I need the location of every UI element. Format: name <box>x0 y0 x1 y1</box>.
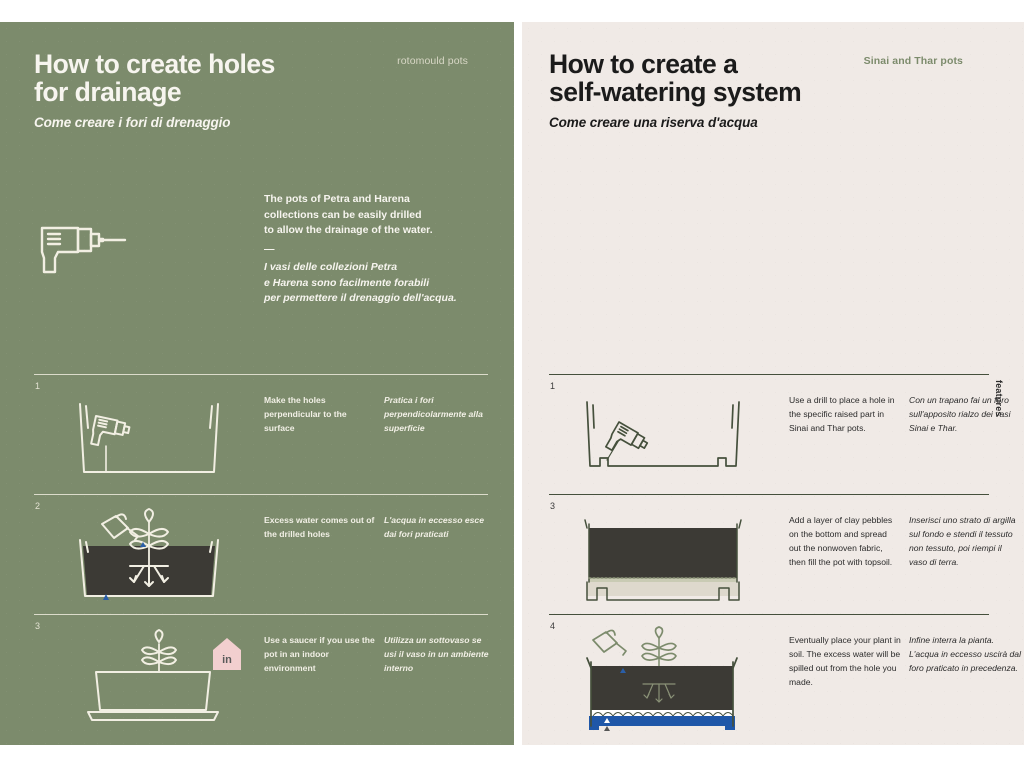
left-page-subtitle: Come creare i fori di drenaggio <box>34 115 480 130</box>
left-page: How to create holes for drainage Come cr… <box>0 22 514 745</box>
raised-pot-with-drill-illustration <box>567 388 767 486</box>
left-title-line-2: for drainage <box>34 78 480 106</box>
right-step-4: 4 <box>549 614 989 734</box>
step-divider <box>549 374 989 375</box>
right-step-3-copy: Add a layer of clay pebbles on the botto… <box>789 514 1021 570</box>
step-copy-en: Use a saucer if you use the pot in an in… <box>264 634 376 676</box>
step-copy-en: Add a layer of clay pebbles on the botto… <box>789 514 901 570</box>
right-step-1: 1 <box>549 374 989 494</box>
right-page: How to create a self-watering system Com… <box>522 22 1024 745</box>
left-step-1: 1 <box>34 374 488 494</box>
step-number: 3 <box>35 621 40 631</box>
step-copy-en: Excess water comes out of the drilled ho… <box>264 514 376 542</box>
pot-with-drill-illustration <box>58 388 268 486</box>
right-step-4-copy: Eventually place your plant in soil. The… <box>789 634 1021 690</box>
drill-icon <box>34 192 264 276</box>
right-step-3: 3 <box>549 494 989 614</box>
left-intro-text: The pots of Petra and Harena collections… <box>264 192 457 307</box>
step-divider <box>34 614 488 615</box>
step-divider <box>34 374 488 375</box>
pot-with-water-reservoir-illustration <box>567 628 767 726</box>
left-intro-it: I vasi delle collezioni Petra e Harena s… <box>264 260 457 307</box>
step-number: 3 <box>550 501 555 511</box>
step-copy-en: Use a drill to place a hole in the speci… <box>789 394 901 436</box>
left-steps-list: 1 <box>34 374 488 734</box>
right-collection-tag: Sinai and Thar pots <box>864 55 963 67</box>
step-copy-it: Con un trapano fai un foro sull'apposito… <box>909 394 1021 436</box>
step-divider <box>549 494 989 495</box>
left-intro-en: The pots of Petra and Harena collections… <box>264 192 457 239</box>
step-number: 2 <box>35 501 40 511</box>
pot-with-saucer-illustration: in <box>58 628 268 726</box>
step-copy-it: Pratica i fori perpendicolarmente alla s… <box>384 394 496 436</box>
left-step-2: 2 <box>34 494 488 614</box>
step-number: 1 <box>550 381 555 391</box>
step-divider <box>549 614 989 615</box>
step-copy-en: Eventually place your plant in soil. The… <box>789 634 901 690</box>
left-step-3: 3 <box>34 614 488 734</box>
step-number: 4 <box>550 621 555 631</box>
svg-text:in: in <box>222 654 232 666</box>
intro-rule-divider: — <box>264 242 457 258</box>
left-intro-block: The pots of Petra and Harena collections… <box>34 192 494 307</box>
left-page-header: How to create holes for drainage Come cr… <box>34 50 480 130</box>
pot-with-plant-watering-illustration <box>58 508 268 606</box>
step-divider <box>34 494 488 495</box>
right-page-subtitle: Come creare una riserva d'acqua <box>549 115 992 130</box>
step-copy-it: Inserisci uno strato di argilla sul fond… <box>909 514 1021 570</box>
step-copy-en: Make the holes perpendicular to the surf… <box>264 394 376 436</box>
left-step-2-copy: Excess water comes out of the drilled ho… <box>264 514 496 542</box>
left-collection-tag: rotomould pots <box>397 55 468 67</box>
right-page-header: How to create a self-watering system Com… <box>549 50 992 130</box>
pot-with-clay-layer-illustration <box>567 508 767 606</box>
step-number: 1 <box>35 381 40 391</box>
right-steps-list: features 1 <box>549 374 989 734</box>
instruction-spread: How to create holes for drainage Come cr… <box>0 0 1024 768</box>
right-title-line-2: self-watering system <box>549 78 992 106</box>
left-step-1-copy: Make the holes perpendicular to the surf… <box>264 394 496 436</box>
step-copy-it: Utilizza un sottovaso se usi il vaso in … <box>384 634 496 676</box>
right-step-1-copy: Use a drill to place a hole in the speci… <box>789 394 1021 436</box>
step-copy-it: Infine interra la pianta. L'acqua in ecc… <box>909 634 1021 690</box>
left-step-3-copy: Use a saucer if you use the pot in an in… <box>264 634 496 676</box>
step-copy-it: L'acqua in eccesso esce dai fori pratica… <box>384 514 496 542</box>
